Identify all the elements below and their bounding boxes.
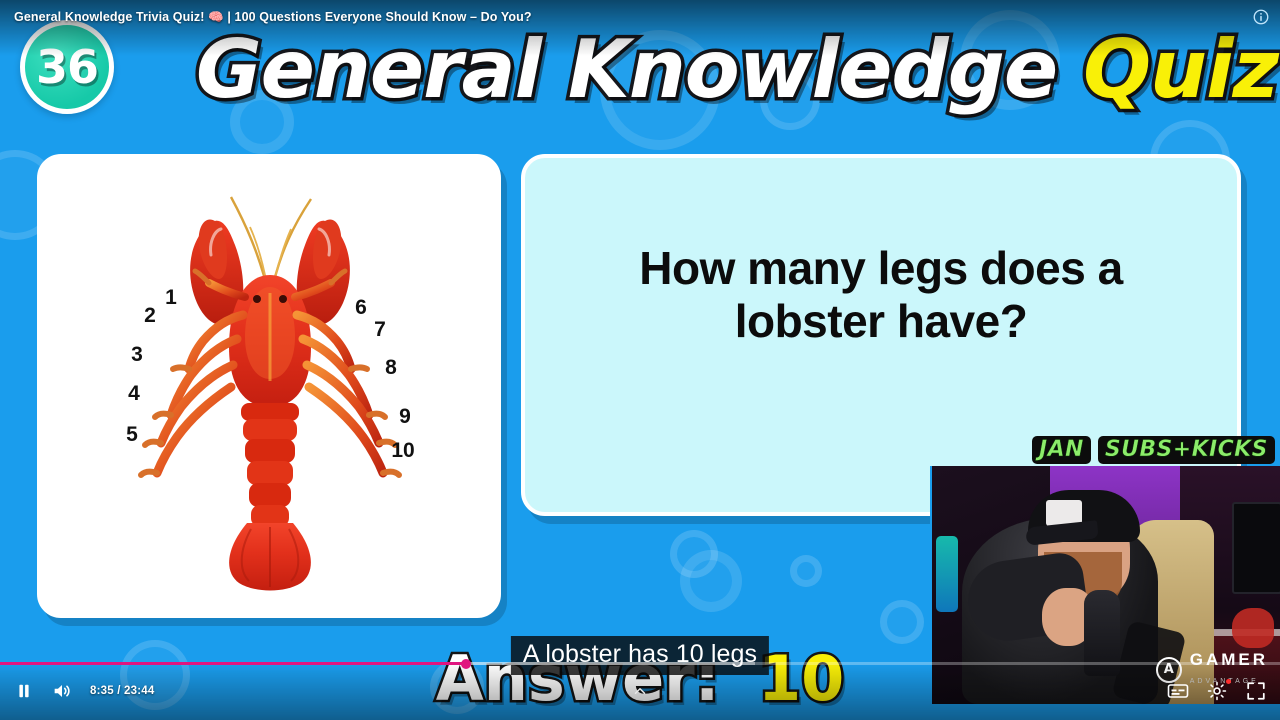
leg-label: 1 xyxy=(165,286,177,310)
settings-notification-dot xyxy=(1226,679,1231,684)
pause-button[interactable] xyxy=(6,676,42,706)
leg-label: 4 xyxy=(128,382,140,406)
stream-overlay-badges: JAN SUBS+KICKS 2/100 xyxy=(1032,436,1280,464)
leg-label: 2 xyxy=(144,304,156,328)
badge-goal-label: SUBS+KICKS xyxy=(1098,436,1275,464)
leg-label: 6 xyxy=(355,296,367,320)
settings-gear-icon[interactable] xyxy=(1199,676,1235,706)
progress-bar-track[interactable] xyxy=(0,662,1280,665)
question-text: How many legs does a lobster have? xyxy=(571,242,1191,349)
bubble-decoration xyxy=(680,550,742,612)
leg-label: 3 xyxy=(131,343,143,367)
player-controls-right xyxy=(1160,676,1274,706)
video-player-stage: 36 General Knowledge Quiz xyxy=(0,0,1280,720)
lobster-image-card: 1 2 3 4 5 6 7 8 9 10 xyxy=(37,154,501,618)
headline-accent: Quiz xyxy=(1083,30,1278,110)
player-controls-left: 8:35 / 23:44 xyxy=(6,676,154,706)
leg-label: 9 xyxy=(399,405,411,429)
bubble-decoration xyxy=(880,600,924,644)
leg-label: 7 xyxy=(374,318,386,342)
headline-primary: General Knowledge xyxy=(196,30,1057,110)
leg-label: 10 xyxy=(391,439,414,463)
subtitles-icon[interactable] xyxy=(1160,676,1196,706)
time-display: 8:35 / 23:44 xyxy=(90,685,154,697)
webcam-rgb-light xyxy=(936,536,958,612)
progress-bar-played xyxy=(0,662,466,665)
quiz-headline: General Knowledge Quiz xyxy=(196,20,1278,120)
lobster-diagram: 1 2 3 4 5 6 7 8 9 10 xyxy=(40,157,498,615)
expand-chapters-button[interactable] xyxy=(627,678,653,704)
leg-label: 5 xyxy=(126,423,138,447)
player-controls-bar: 8:35 / 23:44 xyxy=(0,662,1280,720)
lobster-illustration xyxy=(119,175,419,605)
question-number-value: 36 xyxy=(36,40,98,94)
fullscreen-icon[interactable] xyxy=(1238,676,1274,706)
webcam-monitor xyxy=(1232,502,1280,594)
leg-label: 8 xyxy=(385,356,397,380)
info-icon[interactable] xyxy=(1252,8,1270,26)
webcam-red-object xyxy=(1232,608,1274,648)
progress-bar-handle[interactable] xyxy=(461,659,471,669)
video-title: General Knowledge Trivia Quiz! 🧠 | 100 Q… xyxy=(14,10,532,25)
bubble-decoration xyxy=(670,530,718,578)
question-number-badge: 36 xyxy=(20,20,114,114)
bubble-decoration xyxy=(790,555,822,587)
volume-button[interactable] xyxy=(44,676,80,706)
badge-month: JAN xyxy=(1032,436,1091,464)
